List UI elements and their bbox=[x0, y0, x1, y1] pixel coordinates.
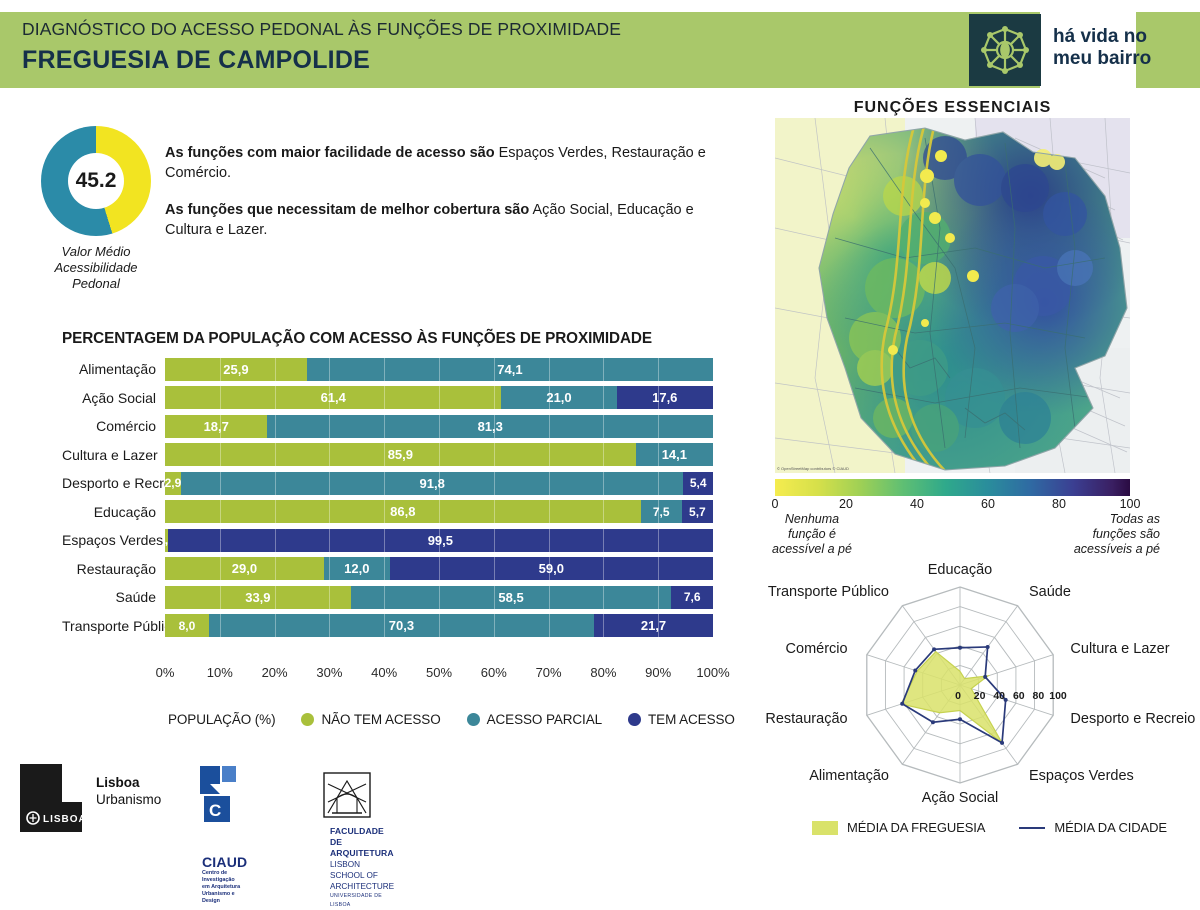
ciaud-logo: C CIAUD Centro de Investigação em Arquit… bbox=[196, 764, 247, 905]
ciaud-sub-2: em Arquitetura bbox=[202, 884, 247, 891]
radar-axis-label: Desporto e Recreio bbox=[1070, 711, 1195, 727]
lisboa-logo-icon: LISBOA bbox=[18, 764, 84, 832]
bar-segment: 7,6 bbox=[671, 586, 713, 609]
map-graphic bbox=[775, 118, 1130, 473]
donut-caption: Valor Médio Acessibilidade Pedonal bbox=[36, 244, 156, 292]
x-axis-tick: 70% bbox=[536, 665, 562, 680]
colorbar-min-caption: Nenhuma função é acessível a pé bbox=[752, 512, 872, 557]
radar-data-point bbox=[958, 646, 962, 650]
summary-p1-bold: As funções com maior facilidade de acess… bbox=[165, 145, 495, 161]
bar-row: Cultura e Lazer85,914,1 bbox=[62, 441, 722, 470]
donut-caption-line-1: Valor Médio bbox=[36, 244, 156, 260]
radar-legend-swatch-line bbox=[1019, 827, 1045, 829]
radar-legend-item-cidade: MÉDIA DA CIDADE bbox=[1019, 820, 1167, 835]
radar-tick-label: 0 bbox=[955, 690, 961, 702]
map-colorbar bbox=[775, 479, 1130, 496]
legend-label: TEM ACESSO bbox=[648, 712, 735, 727]
bar-segment: 85,9 bbox=[165, 443, 636, 466]
cb-right-line-3: acessíveis a pé bbox=[1030, 542, 1160, 557]
bar-segment: 14,1 bbox=[636, 443, 713, 466]
summary-text: As funções com maior facilidade de acess… bbox=[165, 143, 730, 257]
bar-segment: 12,0 bbox=[324, 557, 390, 580]
fa-line-1: FACULDADE DE ARQUITETURA bbox=[330, 826, 394, 859]
radar-axis-label: Comércio bbox=[760, 641, 848, 657]
x-axis-tick: 90% bbox=[645, 665, 671, 680]
bar-segment: 33,9 bbox=[165, 586, 351, 609]
ciaud-sub-3: Urbanismo e Design bbox=[202, 891, 247, 905]
brand-name: há vida no meu bairro bbox=[1053, 26, 1151, 70]
radar-axis-label: Espaços Verdes bbox=[1029, 768, 1134, 784]
bar-category-label: Cultura e Lazer bbox=[62, 447, 165, 463]
bar-segment: 58,5 bbox=[351, 586, 672, 609]
bar-segment: 2,9 bbox=[165, 472, 181, 495]
bar-track: 85,914,1 bbox=[165, 443, 713, 466]
radar-graphic: 020406080100 bbox=[760, 570, 1200, 850]
cb-right-line-2: funções são bbox=[1030, 527, 1160, 542]
lisboa-urbanismo-label: Lisboa Urbanismo bbox=[96, 774, 161, 808]
colorbar-tick: 80 bbox=[1052, 497, 1066, 511]
radar-axis-label: Restauração bbox=[760, 711, 848, 727]
bar-row: Desporto e Recreio2,991,85,4 bbox=[62, 469, 722, 498]
lisboa-mark-label: LISBOA bbox=[43, 814, 84, 825]
bar-segment: 61,4 bbox=[165, 386, 501, 409]
bar-track: 18,781,3 bbox=[165, 415, 713, 438]
x-axis-tick: 40% bbox=[371, 665, 397, 680]
x-axis-tick: 60% bbox=[481, 665, 507, 680]
colorbar-tick: 40 bbox=[910, 497, 924, 511]
bar-category-label: Restauração bbox=[62, 561, 165, 577]
bar-category-label: Educação bbox=[62, 504, 165, 520]
radar-tick-label: 60 bbox=[1013, 690, 1025, 702]
radar-data-point bbox=[1000, 741, 1004, 745]
colorbar-max-caption: Todas as funções são acessíveis a pé bbox=[1030, 512, 1160, 557]
radar-legend-item-freguesia: MÉDIA DA FREGUESIA bbox=[812, 820, 985, 835]
radar-data-point bbox=[931, 720, 935, 724]
bar-segment: 86,8 bbox=[165, 500, 641, 523]
map-title: FUNÇÕES ESSENCIAIS bbox=[775, 99, 1130, 117]
bar-category-label: Ação Social bbox=[62, 390, 165, 406]
network-flower-icon bbox=[976, 21, 1034, 79]
fa-building-icon bbox=[323, 772, 371, 818]
x-axis-tick: 10% bbox=[207, 665, 233, 680]
colorbar-tick: 60 bbox=[981, 497, 995, 511]
x-axis-tick: 80% bbox=[590, 665, 616, 680]
bar-segment: 70,3 bbox=[209, 614, 594, 637]
bar-segment: 91,8 bbox=[181, 472, 684, 495]
bar-segment: 74,1 bbox=[307, 358, 713, 381]
bar-track: 8,070,321,7 bbox=[165, 614, 713, 637]
fa-line-2: LISBON SCHOOL OF ARCHITECTURE bbox=[330, 859, 394, 892]
bar-category-label: Alimentação bbox=[62, 361, 165, 377]
bar-chart-legend: POPULAÇÃO (%) NÃO TEM ACESSOACESSO PARCI… bbox=[168, 712, 735, 727]
radar-axis-label: Alimentação bbox=[760, 768, 889, 784]
bar-segment: 7,5 bbox=[641, 500, 682, 523]
bar-row: Restauração29,012,059,0 bbox=[62, 555, 722, 584]
bar-segment: 29,0 bbox=[165, 557, 324, 580]
brand-logo-icon bbox=[969, 14, 1041, 86]
bar-segment: 5,7 bbox=[682, 500, 713, 523]
radar-tick-label: 100 bbox=[1049, 690, 1067, 702]
bar-segment: 8,0 bbox=[165, 614, 209, 637]
bar-category-label: Transporte Público bbox=[62, 618, 165, 634]
radar-axis-label: Ação Social bbox=[922, 790, 999, 806]
radar-tick-label: 20 bbox=[974, 690, 986, 702]
bar-category-label: Comércio bbox=[62, 418, 165, 434]
bar-segment: 81,3 bbox=[267, 415, 713, 438]
summary-paragraph-2: As funções que necessitam de melhor cobe… bbox=[165, 200, 730, 240]
bar-track: 33,958,57,6 bbox=[165, 586, 713, 609]
legend-item: NÃO TEM ACESSO bbox=[301, 712, 440, 727]
lisboa-line-1: Lisboa bbox=[96, 774, 161, 791]
fa-line-3: UNIVERSIDADE DE LISBOA bbox=[330, 892, 394, 910]
radar-chart-legend: MÉDIA DA FREGUESIA MÉDIA DA CIDADE bbox=[812, 820, 1167, 835]
bar-segment: 99,5 bbox=[168, 529, 713, 552]
page-title: FREGUESIA DE CAMPOLIDE bbox=[22, 46, 621, 75]
bar-segment: 21,0 bbox=[501, 386, 616, 409]
radar-axis-label: Educação bbox=[928, 562, 993, 578]
legend-swatch bbox=[628, 713, 641, 726]
bar-category-label: Espaços Verdes bbox=[62, 532, 165, 548]
bar-segment: 17,6 bbox=[617, 386, 713, 409]
radar-legend-label-freguesia: MÉDIA DA FREGUESIA bbox=[847, 820, 985, 835]
cb-right-line-1: Todas as bbox=[1030, 512, 1160, 527]
cb-left-line-2: função é bbox=[752, 527, 872, 542]
radar-tick-label: 80 bbox=[1033, 690, 1045, 702]
bar-row: Ação Social61,421,017,6 bbox=[62, 384, 722, 413]
bar-segment: 59,0 bbox=[390, 557, 713, 580]
x-axis-tick: 0% bbox=[156, 665, 175, 680]
radar-axis-label: Saúde bbox=[1029, 584, 1071, 600]
colorbar-tick: 100 bbox=[1120, 497, 1141, 511]
map-colorbar-ticks: 020406080100 bbox=[775, 497, 1130, 513]
bar-segment: 18,7 bbox=[165, 415, 267, 438]
bar-segment: 5,4 bbox=[683, 472, 713, 495]
colorbar-tick: 20 bbox=[839, 497, 853, 511]
ciaud-sub-1: Centro de Investigação bbox=[202, 870, 247, 884]
bar-row: Saúde33,958,57,6 bbox=[62, 583, 722, 612]
x-axis-tick: 20% bbox=[262, 665, 288, 680]
colorbar-tick: 0 bbox=[772, 497, 779, 511]
cb-left-line-1: Nenhuma bbox=[752, 512, 872, 527]
summary-paragraph-1: As funções com maior facilidade de acess… bbox=[165, 143, 730, 183]
brand-line-1: há vida no bbox=[1053, 26, 1151, 48]
bar-row: Alimentação25,974,1 bbox=[62, 355, 722, 384]
radar-data-point bbox=[932, 647, 936, 651]
donut-center: 45.2 bbox=[68, 153, 124, 209]
radar-legend-label-cidade: MÉDIA DA CIDADE bbox=[1054, 820, 1167, 835]
legend-label: ACESSO PARCIAL bbox=[487, 712, 602, 727]
bar-row: Espaços Verdes0,599,5 bbox=[62, 526, 722, 555]
ciaud-mark-icon: C bbox=[196, 764, 238, 826]
ciaud-name: CIAUD bbox=[202, 854, 247, 870]
bar-segment: 21,7 bbox=[594, 614, 713, 637]
brand-line-2: meu bairro bbox=[1053, 48, 1151, 70]
radar-data-point bbox=[983, 675, 987, 679]
bar-category-label: Desporto e Recreio bbox=[62, 475, 165, 491]
donut-caption-line-2: Acessibilidade bbox=[36, 260, 156, 276]
radar-axis-label: Cultura e Lazer bbox=[1070, 641, 1169, 657]
bar-row: Educação86,87,55,7 bbox=[62, 498, 722, 527]
header-title-block: DIAGNÓSTICO DO ACESSO PEDONAL ÀS FUNÇÕES… bbox=[22, 19, 621, 75]
radar-axis-label: Transporte Público bbox=[760, 584, 889, 600]
bar-chart-title: PERCENTAGEM DA POPULAÇÃO COM ACESSO ÀS F… bbox=[62, 330, 652, 348]
legend-item: ACESSO PARCIAL bbox=[467, 712, 602, 727]
cb-left-line-3: acessível a pé bbox=[752, 542, 872, 557]
radar-data-point bbox=[900, 702, 904, 706]
bar-track: 2,991,85,4 bbox=[165, 472, 713, 495]
x-axis-tick: 50% bbox=[426, 665, 452, 680]
header-subtitle: DIAGNÓSTICO DO ACESSO PEDONAL ÀS FUNÇÕES… bbox=[22, 19, 621, 40]
radar-data-point bbox=[958, 717, 962, 721]
faculdade-arquitetura-logo: FACULDADE DE ARQUITETURA LISBON SCHOOL O… bbox=[323, 772, 394, 910]
accessibility-map: © OpenStreetMap contributors © CIAUD bbox=[775, 118, 1130, 473]
radar-data-point bbox=[986, 645, 990, 649]
radar-chart: 020406080100 EducaçãoSaúdeCultura e Laze… bbox=[760, 570, 1200, 850]
svg-text:C: C bbox=[209, 801, 221, 820]
bar-chart-x-axis: 0%10%20%30%40%50%60%70%80%90%100% bbox=[165, 665, 713, 683]
legend-swatch bbox=[301, 713, 314, 726]
donut-ring: 45.2 bbox=[41, 126, 151, 236]
bar-track: 61,421,017,6 bbox=[165, 386, 713, 409]
bar-segment: 25,9 bbox=[165, 358, 307, 381]
bar-row: Comércio18,781,3 bbox=[62, 412, 722, 441]
bar-track: 25,974,1 bbox=[165, 358, 713, 381]
bar-row: Transporte Público8,070,321,7 bbox=[62, 612, 722, 641]
bar-category-label: Saúde bbox=[62, 589, 165, 605]
bar-track: 86,87,55,7 bbox=[165, 500, 713, 523]
radar-data-point bbox=[913, 668, 917, 672]
x-axis-tick: 100% bbox=[696, 665, 729, 680]
lisboa-line-2: Urbanismo bbox=[96, 791, 161, 808]
legend-swatch bbox=[467, 713, 480, 726]
donut-value-label: 45.2 bbox=[76, 169, 117, 193]
bar-track: 0,599,5 bbox=[165, 529, 713, 552]
bar-track: 29,012,059,0 bbox=[165, 557, 713, 580]
map-credit: © OpenStreetMap contributors © CIAUD bbox=[777, 466, 849, 471]
legend-title: POPULAÇÃO (%) bbox=[168, 712, 275, 727]
legend-label: NÃO TEM ACESSO bbox=[321, 712, 440, 727]
accessibility-score-donut: 45.2 Valor Médio Acessibilidade Pedonal bbox=[36, 126, 156, 292]
summary-p2-bold: As funções que necessitam de melhor cobe… bbox=[165, 202, 529, 218]
donut-caption-line-3: Pedonal bbox=[36, 276, 156, 292]
radar-tick-label: 40 bbox=[993, 690, 1005, 702]
legend-item: TEM ACESSO bbox=[628, 712, 735, 727]
bar-chart: Alimentação25,974,1Ação Social61,421,017… bbox=[62, 355, 722, 640]
radar-legend-swatch-area bbox=[812, 821, 838, 835]
x-axis-tick: 30% bbox=[316, 665, 342, 680]
